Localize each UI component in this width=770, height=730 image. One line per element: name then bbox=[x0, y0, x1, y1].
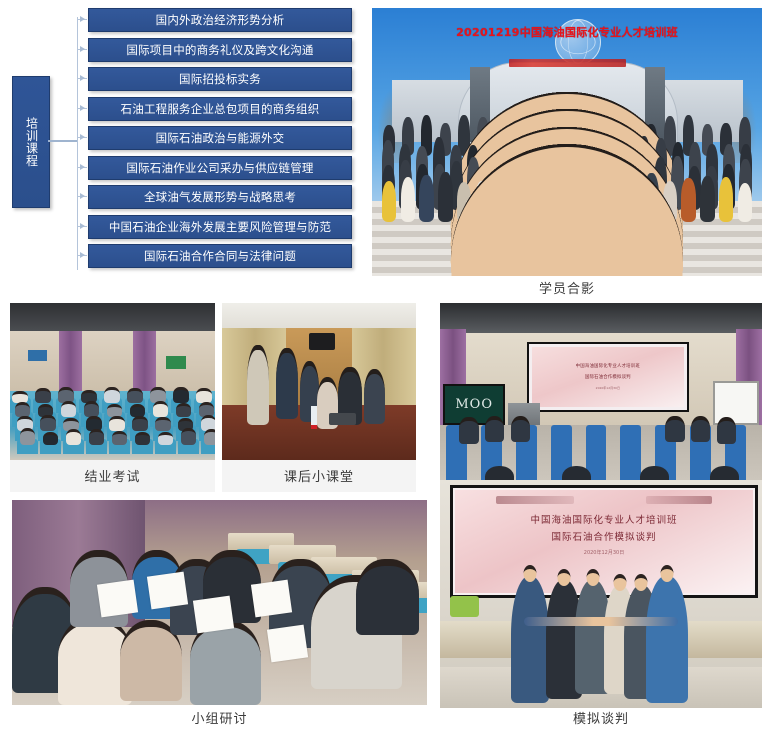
speaker-box bbox=[309, 333, 334, 350]
student bbox=[132, 416, 147, 431]
person bbox=[382, 181, 397, 223]
projected-slide: 中国海油国际化专业人才培训班 国际石油合作模拟谈判 2020年12月30日 bbox=[455, 490, 754, 593]
course-box-label: 国内外政治经济形势分析 bbox=[156, 12, 285, 28]
person-head bbox=[661, 565, 674, 582]
photo-after-class-session[interactable] bbox=[222, 303, 416, 460]
water-bottle bbox=[311, 406, 317, 429]
course-box-label: 中国石油企业海外发展主要风险管理与防范 bbox=[109, 219, 331, 235]
student bbox=[127, 388, 142, 404]
connector-arrow-3 bbox=[80, 75, 85, 81]
slide-title-line1: 中国海油国际化专业人才培训班 bbox=[455, 512, 754, 526]
connector-arrow-6 bbox=[80, 164, 85, 170]
student bbox=[158, 432, 173, 445]
person bbox=[700, 176, 715, 223]
participant bbox=[356, 559, 418, 636]
cnooc-logo bbox=[496, 496, 574, 504]
student bbox=[40, 415, 55, 431]
connector-arrow-2 bbox=[80, 46, 85, 52]
slide-title-line2: 国际石油合作模拟谈判 bbox=[455, 529, 754, 543]
person bbox=[738, 183, 753, 223]
caption-group-portrait: 学员合影 bbox=[372, 278, 762, 297]
handout-paper bbox=[147, 571, 189, 609]
course-box-label: 国际项目中的商务礼仪及跨文化沟通 bbox=[126, 42, 313, 58]
connector-arrow-9 bbox=[80, 252, 85, 258]
university-logo bbox=[646, 496, 712, 504]
negotiator bbox=[646, 576, 688, 704]
course-box-label: 全球油气发展形势与战略思考 bbox=[144, 189, 296, 205]
led-display bbox=[166, 356, 187, 369]
projection-screen: 中国海油国际化专业人才培训班 国际石油合作模拟谈判 2020年12月30日 bbox=[450, 485, 759, 598]
student bbox=[20, 428, 35, 445]
student bbox=[43, 432, 58, 445]
handout-paper bbox=[251, 580, 293, 618]
person-head bbox=[635, 574, 648, 591]
diagram-root-node[interactable]: 培训课程 bbox=[12, 76, 50, 208]
course-box-8[interactable]: 中国石油企业海外发展主要风险管理与防范 bbox=[88, 215, 352, 239]
course-box-label: 国际石油政治与能源外交 bbox=[156, 130, 285, 146]
panelist bbox=[485, 416, 504, 442]
person-head bbox=[451, 144, 683, 276]
ceiling bbox=[440, 303, 762, 333]
course-box-7[interactable]: 全球油气发展形势与战略思考 bbox=[88, 185, 352, 209]
slide-date: 2020年12月30日 bbox=[532, 386, 684, 390]
student bbox=[15, 402, 30, 417]
handout-paper bbox=[97, 580, 139, 618]
panelist bbox=[717, 417, 736, 443]
slide-date: 2020年12月30日 bbox=[455, 549, 754, 556]
course-box-label: 国际石油作业公司采办与供应链管理 bbox=[126, 160, 313, 176]
panelist bbox=[665, 416, 684, 442]
lecture-seating bbox=[10, 391, 215, 460]
student bbox=[196, 388, 211, 403]
caption-after-class-session: 课后小课堂 bbox=[222, 466, 416, 485]
connector-arrow-7 bbox=[80, 193, 85, 199]
person-head bbox=[614, 574, 627, 591]
person bbox=[247, 345, 268, 425]
course-box-5[interactable]: 国际石油政治与能源外交 bbox=[88, 126, 352, 150]
seat bbox=[586, 425, 607, 456]
course-box-label: 石油工程服务企业总包项目的商务组织 bbox=[121, 101, 320, 117]
photo-final-exam[interactable] bbox=[10, 303, 215, 460]
photo-lecture-hall[interactable]: 中国海油国际化专业人才培训班 国际石油合作模拟谈判 2020年12月30日 MO… bbox=[440, 303, 762, 488]
student bbox=[35, 388, 50, 404]
crowd-row-4 bbox=[380, 151, 754, 222]
person-head bbox=[524, 565, 537, 582]
course-box-1[interactable]: 国内外政治经济形势分析 bbox=[88, 8, 352, 32]
group-photo-banner-text: 20201219中国海油国际化专业人才培训班 bbox=[372, 24, 762, 40]
caption-simulated-negotiation: 模拟谈判 bbox=[440, 708, 762, 727]
student bbox=[112, 431, 127, 445]
photo-simulated-negotiation[interactable]: 中国海油国际化专业人才培训班 国际石油合作模拟谈判 2020年12月30日 bbox=[440, 480, 762, 708]
student bbox=[181, 428, 196, 444]
handout-paper bbox=[267, 625, 309, 663]
student bbox=[84, 401, 99, 418]
laptop bbox=[329, 413, 356, 426]
seat bbox=[551, 425, 572, 456]
attendee-crowd bbox=[380, 99, 754, 222]
desk-left bbox=[440, 621, 514, 657]
diagram-spine-line bbox=[77, 17, 78, 270]
seat bbox=[620, 425, 641, 456]
course-box-label: 国际石油合作合同与法律问题 bbox=[144, 248, 296, 264]
training-course-diagram: 培训课程 国内外政治经济形势分析国际项目中的商务礼仪及跨文化沟通国际招投标实务石… bbox=[0, 0, 362, 292]
handout-paper bbox=[192, 596, 234, 634]
student bbox=[153, 401, 168, 417]
person bbox=[364, 369, 385, 424]
student bbox=[66, 429, 81, 445]
student bbox=[89, 429, 104, 445]
participant bbox=[190, 620, 261, 705]
slide-canvas: 培训课程 国内外政治经济形势分析国际项目中的商务礼仪及跨文化沟通国际招投标实务石… bbox=[0, 0, 770, 730]
course-box-3[interactable]: 国际招投标实务 bbox=[88, 67, 352, 91]
course-box-9[interactable]: 国际石油合作合同与法律问题 bbox=[88, 244, 352, 268]
panelist bbox=[459, 417, 478, 443]
person-head bbox=[586, 569, 599, 586]
person bbox=[719, 177, 734, 223]
photo-group-portrait[interactable]: 20201219中国海油国际化专业人才培训班 bbox=[372, 8, 762, 276]
slide-title-line1: 中国海油国际化专业人才培训班 bbox=[532, 363, 684, 369]
connector-arrow-8 bbox=[80, 223, 85, 229]
student bbox=[155, 417, 170, 431]
projected-slide: 中国海油国际化专业人才培训班 国际石油合作模拟谈判 2020年12月30日 bbox=[532, 347, 684, 408]
panelist bbox=[691, 416, 710, 442]
caption-final-exam: 结业考试 bbox=[10, 466, 215, 485]
desk-right bbox=[688, 621, 762, 657]
person bbox=[401, 177, 416, 222]
negotiator bbox=[511, 576, 550, 704]
wall-monitor bbox=[28, 350, 46, 361]
course-box-6[interactable]: 国际石油作业公司采办与供应链管理 bbox=[88, 156, 352, 180]
building-signage bbox=[509, 59, 626, 67]
handshake bbox=[524, 617, 679, 626]
course-box-label: 国际招投标实务 bbox=[179, 71, 261, 87]
panelist bbox=[511, 416, 530, 442]
person bbox=[681, 178, 696, 223]
connector-arrow-5 bbox=[80, 134, 85, 140]
person bbox=[419, 175, 434, 222]
diagram-trunk-line bbox=[48, 140, 78, 142]
connector-arrow-1 bbox=[80, 16, 85, 22]
student bbox=[61, 401, 76, 417]
person bbox=[438, 172, 453, 223]
ceiling bbox=[10, 303, 215, 331]
connector-arrow-4 bbox=[80, 105, 85, 111]
diagram-root-label: 培训课程 bbox=[24, 117, 39, 167]
slide-title-line2: 国际石油合作模拟谈判 bbox=[532, 374, 684, 380]
student bbox=[104, 387, 119, 404]
projection-screen: 中国海油国际化专业人才培训班 国际石油合作模拟谈判 2020年12月30日 bbox=[527, 342, 689, 413]
caption-group-discussion: 小组研讨 bbox=[12, 708, 427, 727]
student bbox=[135, 432, 150, 445]
person-head bbox=[557, 569, 570, 586]
student bbox=[204, 429, 215, 445]
course-box-4[interactable]: 石油工程服务企业总包项目的商务组织 bbox=[88, 97, 352, 121]
person bbox=[276, 348, 297, 419]
photo-group-discussion[interactable] bbox=[12, 500, 427, 705]
student bbox=[176, 403, 191, 418]
course-box-2[interactable]: 国际项目中的商务礼仪及跨文化沟通 bbox=[88, 38, 352, 62]
student bbox=[109, 416, 124, 432]
chair-left bbox=[450, 596, 479, 617]
student bbox=[173, 387, 188, 403]
